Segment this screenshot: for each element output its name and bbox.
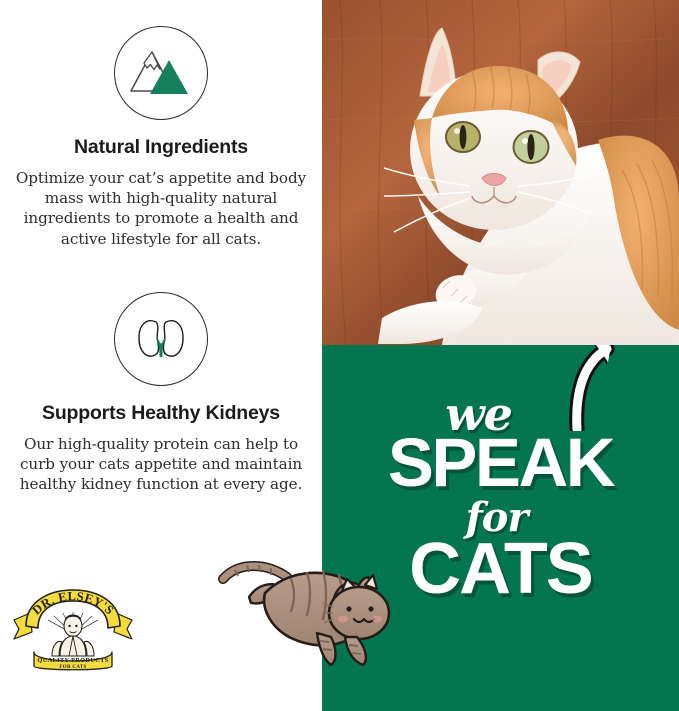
dr-elseys-logo: DR. ELSEY'S bbox=[8, 582, 138, 672]
mountain-icon bbox=[114, 26, 208, 120]
kidneys-icon bbox=[114, 292, 208, 386]
feature-body: Our high-quality protein can help to cur… bbox=[0, 434, 322, 495]
logo-portrait bbox=[52, 615, 94, 657]
feature-title: Supports Healthy Kidneys bbox=[0, 402, 322, 425]
feature-body: Optimize your cat’s appetite and body ma… bbox=[0, 168, 322, 249]
logo-tagline-sub: FOR CATS bbox=[59, 665, 86, 670]
infographic-page: Natural Ingredients Optimize your cat’s … bbox=[0, 0, 679, 711]
leaping-tabby-cat-illustration bbox=[213, 541, 403, 669]
feature-title: Natural Ingredients bbox=[0, 136, 322, 159]
feature-supports-healthy-kidneys: Supports Healthy Kidneys Our high-qualit… bbox=[0, 292, 322, 495]
cat-photo bbox=[322, 0, 679, 345]
logo-tagline: QUALITY PRODUCTS bbox=[37, 657, 108, 664]
feature-natural-ingredients: Natural Ingredients Optimize your cat’s … bbox=[0, 26, 322, 249]
slogan-line-speak: SPEAK bbox=[322, 431, 679, 496]
